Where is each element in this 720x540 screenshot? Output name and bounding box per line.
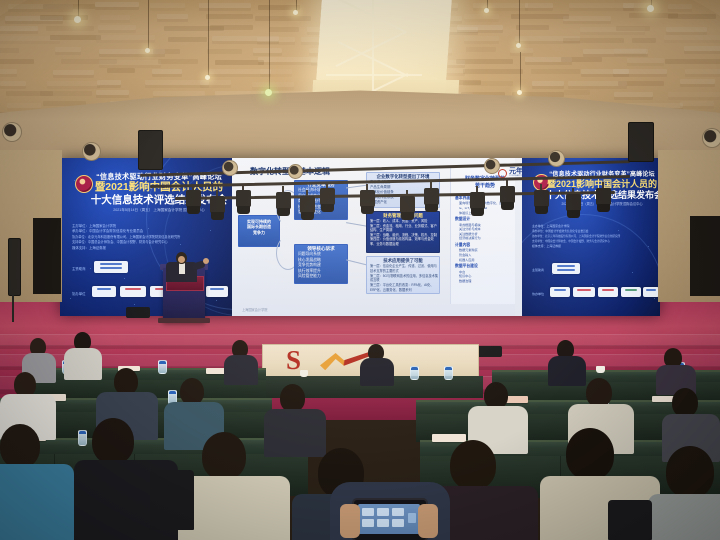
wall-vent bbox=[288, 164, 303, 179]
sponsor-chip bbox=[92, 286, 116, 297]
slide-mid-box-2-header: 领导核心诉求 bbox=[295, 245, 347, 252]
wood-slat bbox=[99, 60, 162, 65]
sponsor-chip bbox=[120, 286, 146, 297]
right-banner-credits: 主办单位：上海国家会计学院 承办单位：中国会计学会财务信息化专业委员会 协办单位… bbox=[532, 224, 658, 249]
ceiling-downlight bbox=[647, 5, 654, 12]
head-table-cup bbox=[300, 370, 308, 377]
slide-mid-box-2-item: 风险管控能力 bbox=[295, 274, 347, 280]
wood-slat bbox=[466, 47, 496, 52]
wood-slat bbox=[96, 35, 155, 40]
slide-right-box-2-item: 第二层：资金流、租用、行业、业务模式、客户结构、生产周期 bbox=[367, 224, 439, 233]
wood-slat bbox=[53, 70, 94, 75]
wood-slat bbox=[260, 69, 292, 74]
wood-slat bbox=[463, 81, 513, 86]
head-table-bottle bbox=[444, 366, 453, 380]
wood-slat bbox=[46, 26, 94, 31]
credit-line: 媒体支持：上海证券报 bbox=[72, 246, 228, 251]
wood-slat bbox=[531, 69, 579, 74]
stage-monitor-right bbox=[476, 346, 502, 357]
slide-mid-box-2: 领导核心诉求 问题导向系统 核心发展战略 竞争优势构建 执行效率提升 风险管控能… bbox=[294, 244, 348, 284]
wood-slat bbox=[158, 59, 198, 64]
right-hand bbox=[418, 504, 438, 538]
podium-base bbox=[158, 318, 210, 323]
wood-slat bbox=[632, 38, 656, 43]
wood-slat bbox=[98, 25, 136, 30]
wood-slat bbox=[456, 59, 512, 64]
slide-right-box-2-item: 第四层：价值创造与绩效构建、效率与资金效率、业务与数据治理 bbox=[367, 237, 439, 246]
wood-slat bbox=[668, 4, 692, 9]
left-hand bbox=[340, 504, 360, 538]
smartphone[interactable] bbox=[352, 498, 428, 540]
wood-slat bbox=[618, 81, 663, 86]
handout-paper bbox=[432, 434, 466, 442]
sponsor-row-label: 协办单位 bbox=[72, 291, 86, 296]
wood-slat bbox=[561, 57, 601, 62]
ceiling-downlight bbox=[484, 8, 489, 13]
sponsor-row-label: 主赞助商 bbox=[532, 268, 544, 272]
stage-monitor bbox=[126, 307, 150, 318]
wall-vent bbox=[548, 150, 565, 167]
wood-slat bbox=[0, 26, 38, 31]
wood-slat bbox=[100, 15, 130, 20]
wall-vent bbox=[222, 160, 238, 176]
sponsor-chip bbox=[598, 287, 618, 297]
wood-slat bbox=[613, 69, 667, 74]
wood-slat bbox=[680, 101, 714, 106]
slide-right-box-3-item: 第二层：5G与物联网技术的应用，多信息技术集成互联 bbox=[367, 274, 439, 284]
wood-slat bbox=[47, 81, 100, 86]
water-bottle bbox=[158, 360, 167, 374]
wood-slat bbox=[525, 3, 553, 8]
wood-slat bbox=[0, 48, 19, 53]
wood-slat bbox=[0, 69, 17, 74]
wood-slat bbox=[257, 37, 295, 42]
slide-right-box-3-item: 第三层：平台化工具的改变：RPA化、AI化、ERP化、云服务化、数据系列 bbox=[367, 283, 439, 293]
wood-slat bbox=[206, 14, 254, 19]
wood-slat bbox=[95, 2, 139, 7]
slide-connector bbox=[346, 184, 368, 188]
wood-slat bbox=[152, 69, 182, 74]
slide-root-box: 实现可持续的 国际长期创造 竞争力 bbox=[238, 215, 280, 247]
sponsor-row-label: 主赞助商 bbox=[72, 266, 86, 271]
wood-slat bbox=[666, 27, 707, 32]
slide-right-box-3-item: 第一层：信息化企业产生、传递、过滤、使用与技术支撑的主要形式 bbox=[367, 264, 439, 274]
light-wire bbox=[520, 52, 521, 92]
light-wire bbox=[269, 0, 270, 92]
speaker-face bbox=[178, 256, 185, 263]
light-wire bbox=[519, 0, 520, 46]
wood-slat bbox=[668, 92, 719, 97]
water-bottle bbox=[78, 430, 87, 446]
wood-slat bbox=[516, 25, 549, 30]
credit-line: 媒体支持：上海证券报 bbox=[532, 244, 658, 249]
sponsor-chip bbox=[552, 263, 580, 274]
wood-slat bbox=[564, 90, 589, 95]
wood-slat bbox=[685, 69, 720, 74]
slide-trend-item: 经济前决策行为 bbox=[455, 236, 516, 241]
phone-screen[interactable] bbox=[358, 504, 420, 534]
wall-vent bbox=[484, 158, 500, 174]
sponsor-chip bbox=[573, 287, 595, 297]
sponsor-chip bbox=[621, 287, 641, 297]
wood-slat bbox=[153, 49, 180, 54]
wood-slat bbox=[473, 3, 528, 8]
head-table-bottle bbox=[410, 366, 419, 380]
wood-slat bbox=[464, 14, 500, 19]
skylight-truss-horizontal bbox=[326, 74, 422, 76]
wood-slat bbox=[150, 3, 185, 8]
sponsor-chip bbox=[94, 261, 128, 273]
wood-slat bbox=[253, 48, 282, 53]
wood-slat bbox=[563, 38, 625, 43]
wall-speaker-left bbox=[138, 130, 163, 170]
wall-vent bbox=[702, 128, 720, 148]
wood-slat bbox=[255, 16, 312, 21]
wood-slat bbox=[97, 80, 121, 85]
left-banner-subtitle: 2021年5月14日（周五） 上海国家会计学院 国际会议中心 bbox=[90, 207, 228, 214]
wall-vent bbox=[2, 122, 22, 142]
wood-slat bbox=[153, 91, 205, 96]
ceiling-downlight-green bbox=[265, 89, 272, 96]
ceiling-downlight bbox=[74, 16, 81, 23]
wood-slat bbox=[510, 48, 532, 53]
wood-slat bbox=[0, 59, 34, 64]
slide-footer: 上海国家会计学院 bbox=[242, 307, 268, 312]
wood-slat bbox=[269, 27, 299, 32]
wood-slat bbox=[665, 59, 720, 64]
yonyear-mark-icon bbox=[498, 169, 507, 178]
wood-slat bbox=[664, 35, 720, 40]
ceiling-downlight bbox=[205, 75, 210, 80]
wood-slat bbox=[43, 4, 95, 9]
wood-slat bbox=[200, 80, 231, 85]
wood-slat bbox=[684, 46, 720, 51]
wood-slat bbox=[7, 103, 42, 108]
sponsor-chip bbox=[206, 286, 228, 297]
wood-slat bbox=[107, 68, 136, 73]
wood-slat bbox=[627, 58, 664, 63]
wood-slat bbox=[616, 26, 650, 31]
pa-speaker-left bbox=[8, 238, 21, 296]
slide-trend-item: 数据治理 bbox=[455, 279, 516, 284]
ceiling-downlight bbox=[145, 48, 150, 53]
audience-chair bbox=[608, 500, 652, 540]
wood-slat bbox=[157, 14, 188, 19]
wall-vent bbox=[82, 142, 101, 161]
speaker-stand-pole bbox=[12, 294, 14, 322]
wood-slat bbox=[532, 81, 564, 86]
wood-slat bbox=[258, 5, 301, 10]
slide-right-box-3-header: 技术应用提供了可能 bbox=[367, 257, 439, 264]
wood-slat bbox=[680, 79, 716, 84]
wood-slat bbox=[563, 16, 611, 21]
left-banner-title: “信息技术驱动行业财务变革”高峰论坛 暨2021影响中国会计人员的 十大信息技术… bbox=[90, 172, 228, 214]
wood-slat bbox=[50, 35, 101, 40]
wood-slat bbox=[96, 90, 129, 95]
wood-slat bbox=[464, 36, 499, 41]
wood-slat bbox=[207, 49, 242, 54]
ceiling-downlight bbox=[293, 10, 298, 15]
wood-slat bbox=[457, 25, 503, 30]
wood-slat bbox=[210, 25, 253, 30]
wall-speaker-right bbox=[628, 122, 654, 162]
slide-connector bbox=[346, 222, 368, 227]
slide-root-label: 实现可持续的 国际长期创造 竞争力 bbox=[239, 216, 279, 235]
right-doorway bbox=[690, 216, 720, 296]
wood-slat bbox=[215, 60, 265, 65]
speaker-shirt bbox=[179, 263, 185, 274]
sponsor-chip bbox=[550, 287, 570, 297]
ceiling-downlight bbox=[517, 90, 522, 95]
right-banner-screen: “信息技术驱动行业财务变革”高峰论坛 暨2021影响中国会计人员的 十大信息技术… bbox=[522, 158, 660, 316]
slide-right-box-3: 技术应用提供了可能 第一层：信息化企业产生、传递、过滤、使用与技术支撑的主要形式… bbox=[366, 256, 440, 294]
ceiling-downlight bbox=[516, 43, 521, 48]
sponsor-row-label: 协办单位 bbox=[532, 292, 544, 296]
wood-slat bbox=[614, 48, 646, 53]
left-banner-credits: 主办单位：上海国家会计学院 承办单位：中国会计学会财务信息化专业委员会 协办单位… bbox=[72, 224, 228, 251]
cup bbox=[596, 366, 605, 373]
light-wire bbox=[208, 0, 209, 78]
wood-slat bbox=[55, 47, 81, 52]
slide-connector bbox=[346, 259, 368, 265]
speaker-hand bbox=[203, 258, 209, 264]
wood-slat bbox=[199, 3, 251, 8]
slide-trend-item: 机器人应用 bbox=[455, 258, 516, 263]
slide-trend-item: 体验识上 bbox=[455, 211, 516, 216]
audience-chair bbox=[150, 470, 194, 530]
wood-slat bbox=[168, 37, 207, 42]
sponsor-chip bbox=[643, 287, 659, 297]
wood-slat bbox=[252, 82, 294, 87]
wood-slat bbox=[463, 69, 523, 74]
wood-slat bbox=[40, 91, 92, 96]
left-banner-screen: “信息技术驱动行业财务变革”高峰论坛 暨2021影响中国会计人员的 十大信息技术… bbox=[60, 158, 232, 316]
wood-slat bbox=[0, 81, 26, 86]
light-wire bbox=[148, 0, 149, 50]
wood-slat bbox=[614, 92, 653, 97]
wood-slat bbox=[668, 14, 716, 19]
conference-hall-photo: “信息技术驱动行业财务变革”高峰论坛 暨2021影响中国会计人员的 十大信息技术… bbox=[0, 0, 720, 540]
left-doorway bbox=[33, 218, 61, 294]
